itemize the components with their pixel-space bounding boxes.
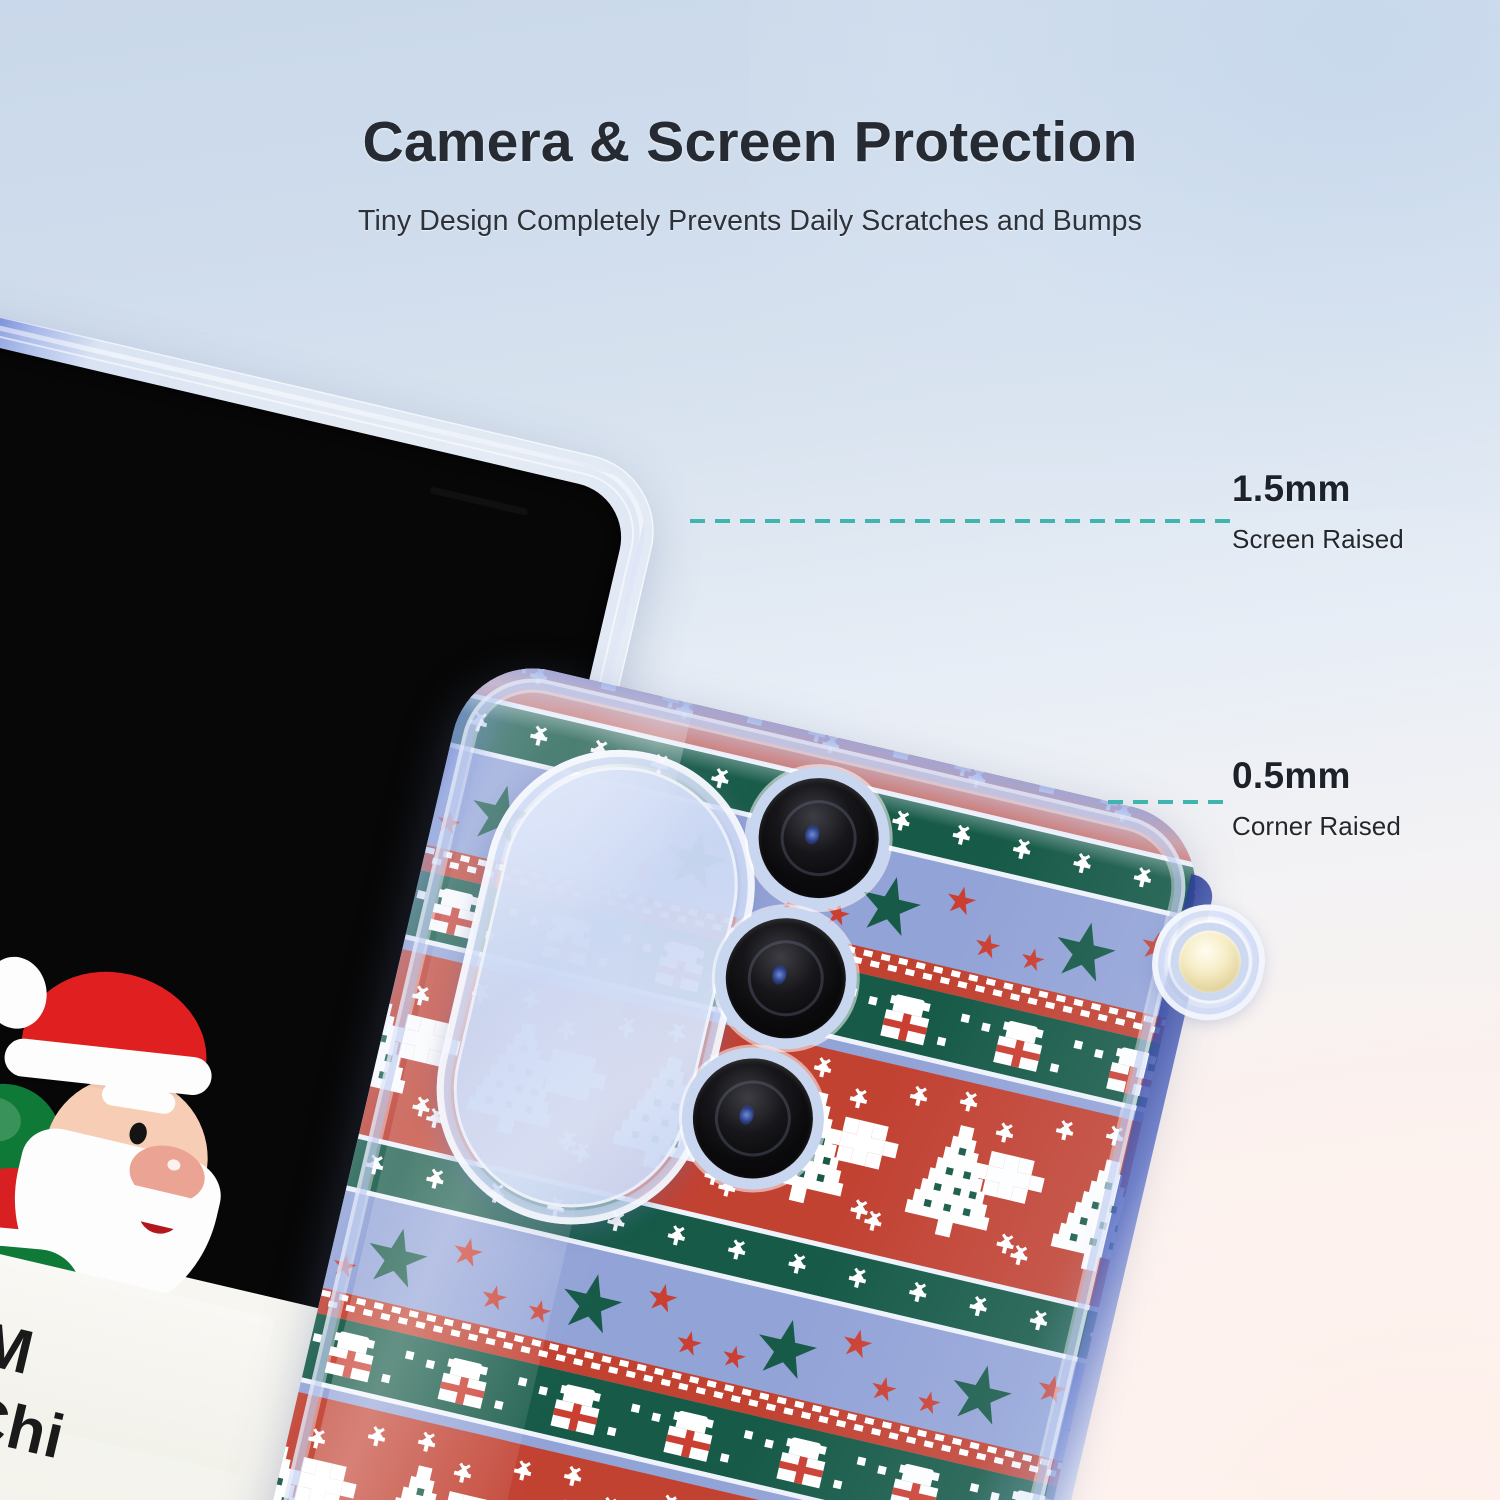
red-star-icon [525, 1297, 554, 1326]
snowflake-icon [417, 1433, 435, 1451]
page-subtitle: Tiny Design Completely Prevents Daily Sc… [0, 205, 1500, 238]
polar-bear-gift-icon [773, 1435, 832, 1489]
snowflake-icon [967, 769, 987, 789]
snowflake-icon [528, 666, 548, 686]
green-star-icon [1047, 916, 1122, 991]
snowflake-icon [658, 1496, 680, 1500]
green-star-icon [943, 1359, 1018, 1434]
lens-ring-3 [707, 1073, 798, 1164]
snowflake-icon [1054, 1121, 1076, 1143]
page-title: Camera & Screen Protection [0, 112, 1500, 172]
background-glow-top-right [750, 0, 1500, 510]
red-star-icon [839, 1326, 875, 1362]
nordic-snowflake-icon [294, 1457, 347, 1500]
pattern-dot [416, 890, 426, 900]
red-star-icon [972, 931, 1003, 962]
snowflake-icon [1105, 1127, 1123, 1145]
red-star-icon [644, 1281, 680, 1317]
pattern-dot [961, 1014, 971, 1024]
leader-line-corner-raised [1108, 800, 1230, 804]
pattern-dot [990, 1492, 1000, 1500]
red-star-icon [914, 1389, 943, 1418]
snowflake-icon [907, 1283, 932, 1308]
red-star-icon [823, 900, 852, 929]
red-star-icon [478, 1282, 509, 1313]
snowflake-icon [890, 812, 915, 837]
santa-illustration [0, 928, 297, 1354]
annotation-value-corner: 0.5mm [1232, 757, 1401, 794]
snowflake-icon [675, 700, 695, 720]
snowflake-icon [821, 735, 841, 755]
snowflake-icon [967, 1297, 992, 1322]
red-star-icon [1034, 1372, 1070, 1408]
snowflake-icon [452, 1464, 472, 1484]
snowflake-icon [1027, 1311, 1052, 1336]
pattern-dot [651, 1412, 661, 1422]
pattern-dot [970, 1483, 980, 1493]
red-star-icon [943, 883, 979, 919]
polar-bear-gift-icon [660, 1408, 719, 1462]
polar-bear-gift-icon [990, 1018, 1049, 1072]
pattern-dot [764, 1439, 774, 1449]
snowflake-icon [846, 1269, 871, 1294]
snowflake-icon [1113, 803, 1133, 823]
snowflake-icon [813, 1058, 831, 1076]
pattern-dot [1050, 1063, 1060, 1073]
red-star-icon [719, 1343, 748, 1372]
snowflake-icon [950, 826, 975, 851]
pattern-dot [631, 1404, 641, 1414]
snowflake-icon [424, 1170, 449, 1195]
pattern-dot [425, 1359, 435, 1369]
pattern-dot [744, 1430, 754, 1440]
pattern-dot [857, 1457, 867, 1467]
snowflake-icon [410, 987, 430, 1007]
pattern-dot [381, 1374, 391, 1384]
snowflake-icon [1009, 1246, 1029, 1266]
green-star-icon [749, 1313, 824, 1388]
red-star-icon [434, 809, 463, 838]
red-star-icon [450, 1235, 486, 1271]
pattern-dot [877, 1465, 887, 1475]
snowflake-icon [363, 1156, 388, 1181]
snowflake-icon [467, 713, 492, 738]
polar-bear-gift-icon [877, 992, 936, 1046]
snowflake-icon [306, 1430, 326, 1450]
pattern-dot [494, 1400, 504, 1410]
leader-line-screen-raised [690, 519, 1230, 523]
polar-bear-gift-icon [435, 1355, 494, 1409]
snowflake-icon [1011, 840, 1036, 865]
pattern-dot [405, 1351, 415, 1361]
snowflake-icon [366, 1427, 388, 1449]
annotation-value-screen: 1.5mm [1232, 470, 1404, 507]
snowflake-icon [786, 1255, 811, 1280]
snowflake-icon [863, 1212, 883, 1232]
pattern-dot [538, 1386, 548, 1396]
polar-bear-gift-icon [886, 1461, 945, 1500]
pattern-dot [607, 1427, 617, 1437]
snowflake-icon [528, 727, 553, 752]
pattern-dot [868, 996, 878, 1006]
pattern-dot [313, 1333, 323, 1343]
snowflake-icon [959, 1093, 977, 1111]
snowflake-icon [665, 1226, 690, 1251]
pattern-dot [848, 987, 858, 997]
earpiece-slot [430, 487, 529, 517]
snowflake-icon [848, 1089, 868, 1109]
pattern-dot [1094, 1049, 1104, 1059]
header-block: Camera & Screen Protection Tiny Design C… [0, 112, 1500, 238]
annotation-label-screen: Screen Raised [1232, 526, 1404, 552]
annotation-corner-raised: 0.5mm Corner Raised [1232, 757, 1401, 839]
snowflake-icon [717, 1178, 737, 1198]
red-star-icon [868, 1374, 899, 1405]
polar-bear-gift-icon [322, 1329, 381, 1383]
green-star-icon [554, 1267, 629, 1342]
red-star-icon [1018, 946, 1047, 975]
pattern-dot [981, 1022, 991, 1032]
annotation-screen-raised: 1.5mm Screen Raised [1232, 470, 1404, 552]
snowflake-icon [726, 1241, 751, 1266]
snowflake-icon [512, 1462, 534, 1484]
snowflake-icon [994, 1124, 1014, 1144]
red-star-icon [673, 1328, 704, 1359]
snowflake-icon [1131, 868, 1156, 893]
snowflake-icon [563, 1467, 581, 1485]
pattern-dot [1074, 1040, 1084, 1050]
annotation-label-corner: Corner Raised [1232, 813, 1401, 839]
lens-ring-2 [740, 933, 831, 1024]
pattern-dot [833, 1480, 843, 1490]
polar-bear-gift-icon [548, 1382, 607, 1436]
red-star-icon [330, 1252, 359, 1281]
lens-ring-1 [773, 792, 864, 883]
pattern-dot [720, 1453, 730, 1463]
snowflake-icon [908, 1087, 930, 1109]
snowflake-icon [1071, 854, 1096, 879]
green-star-icon [853, 870, 928, 945]
christmas-tree-icon [504, 1491, 613, 1500]
pattern-dot [518, 1377, 528, 1387]
pattern-dot [937, 1037, 947, 1047]
green-star-icon [359, 1222, 434, 1297]
